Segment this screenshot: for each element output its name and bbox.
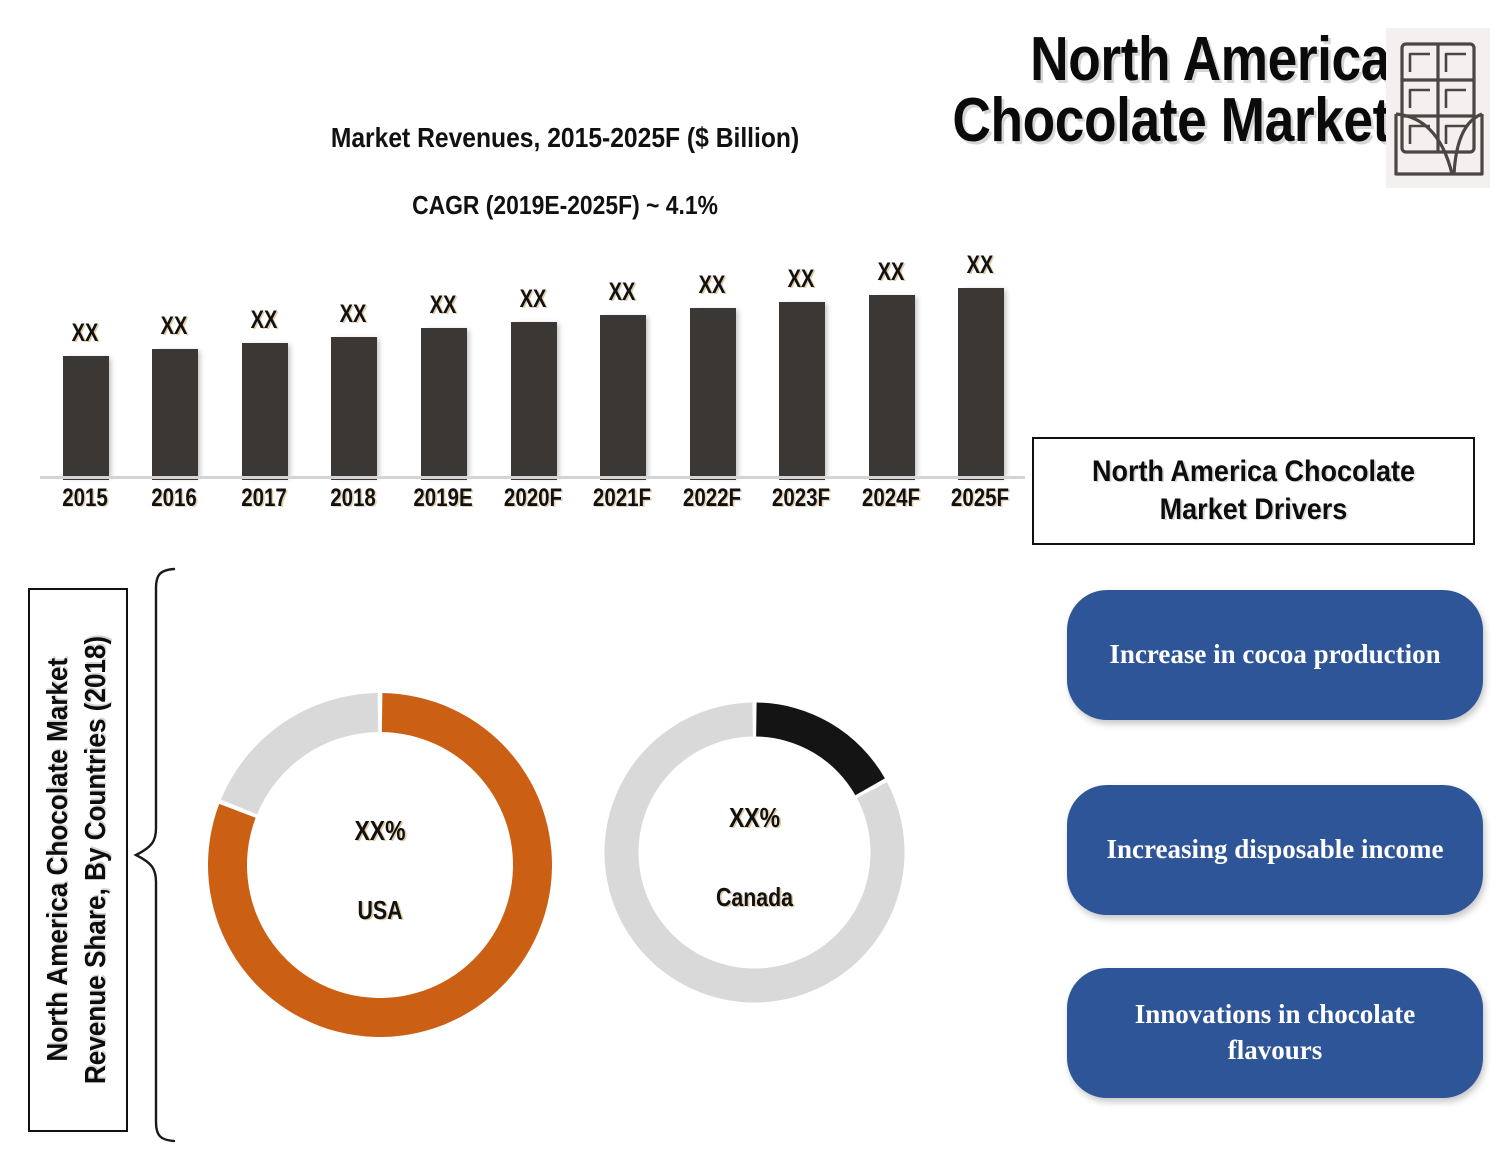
drivers-header-line-2: Market Drivers	[1092, 491, 1415, 529]
bar-value-label: XX	[855, 258, 925, 287]
bar-chart-subtitle: CAGR (2019E-2025F) ~ 4.1%	[257, 190, 873, 221]
bar-category-2015: 2015	[49, 484, 121, 513]
bar-column: XX	[399, 254, 487, 480]
bar-column: XX	[220, 254, 308, 480]
driver-pill-2-label: Increasing disposable income	[1106, 832, 1443, 868]
bar-2015	[63, 356, 109, 480]
bar-value-label: XX	[497, 285, 567, 314]
share-axis-label-line-2: Revenue Share, By Countries (2018)	[78, 636, 116, 1084]
drivers-header-box: North America Chocolate Market Drivers	[1032, 437, 1475, 545]
bar-category-2023F: 2023F	[765, 484, 837, 513]
bar-chart-plot: XXXXXXXXXXXXXXXXXXXXXX	[40, 250, 1025, 480]
bar-category-2021F: 2021F	[586, 484, 658, 513]
bar-value-label: XX	[229, 306, 299, 335]
page-title: North America Chocolate Market	[860, 30, 1390, 152]
donut-slice-canada	[756, 703, 885, 796]
driver-pill-3-label: Innovations in chocolate flavours	[1101, 997, 1449, 1068]
driver-pill-1-label: Increase in cocoa production	[1109, 637, 1440, 673]
bar-column: XX	[847, 254, 935, 480]
bar-column: XX	[489, 254, 577, 480]
bar-category-2017: 2017	[228, 484, 300, 513]
bar-2016	[152, 349, 198, 480]
page-title-line-1: North America	[934, 30, 1390, 91]
driver-pill-2[interactable]: Increasing disposable income	[1067, 785, 1483, 915]
bar-value-label: XX	[139, 312, 209, 341]
bar-column: XX	[578, 254, 666, 480]
bar-2018	[331, 337, 377, 480]
bar-column: XX	[130, 254, 218, 480]
bar-value-label: XX	[318, 300, 388, 329]
bar-chart-axis-line	[40, 476, 1025, 479]
bar-column: XX	[936, 254, 1024, 480]
donut-chart-canada: XX% Canada	[602, 700, 907, 1005]
bar-2022F	[690, 308, 736, 480]
driver-pill-1[interactable]: Increase in cocoa production	[1067, 590, 1483, 720]
bar-value-label: XX	[766, 265, 836, 294]
bar-value-label: XX	[676, 271, 746, 300]
driver-pill-3[interactable]: Innovations in chocolate flavours	[1067, 968, 1483, 1098]
bar-value-label: XX	[50, 319, 120, 348]
bar-category-2024F: 2024F	[855, 484, 927, 513]
bar-column: XX	[41, 254, 129, 480]
bar-category-2018: 2018	[317, 484, 389, 513]
bar-category-2020F: 2020F	[496, 484, 568, 513]
chocolate-bar-icon	[1386, 28, 1490, 188]
bar-2021F	[600, 315, 646, 480]
bar-category-2016: 2016	[138, 484, 210, 513]
bar-column: XX	[668, 254, 756, 480]
donut-canada-country: Canada	[629, 882, 879, 913]
donut-usa-percent: XX%	[237, 815, 524, 847]
bar-value-label: XX	[587, 278, 657, 307]
bar-2019E	[421, 328, 467, 480]
bar-2017	[242, 343, 288, 480]
donut-usa-country: USA	[237, 895, 524, 926]
bar-2024F	[869, 295, 915, 480]
bar-column: XX	[757, 254, 845, 480]
bar-category-2025F: 2025F	[944, 484, 1016, 513]
bar-2020F	[511, 322, 557, 480]
bar-category-2022F: 2022F	[675, 484, 747, 513]
donut-slice-other	[221, 693, 378, 814]
bar-value-label: XX	[945, 251, 1015, 280]
bar-2025F	[958, 288, 1004, 480]
drivers-header-line-1: North America Chocolate	[1092, 453, 1415, 491]
bar-chart-title: Market Revenues, 2015-2025F ($ Billion)	[257, 122, 873, 154]
bar-value-label: XX	[408, 291, 478, 320]
share-axis-label-line-1: North America Chocolate Market	[40, 658, 78, 1062]
page-title-line-2: Chocolate Market	[934, 91, 1390, 152]
donut-canada-percent: XX%	[629, 802, 879, 834]
bar-column: XX	[309, 254, 397, 480]
donut-chart-usa: XX% USA	[205, 690, 555, 1040]
bar-category-2019E: 2019E	[407, 484, 479, 513]
share-brace-icon	[130, 566, 178, 1144]
share-axis-label-box: North America Chocolate Market Revenue S…	[28, 588, 128, 1132]
bar-2023F	[779, 302, 825, 480]
